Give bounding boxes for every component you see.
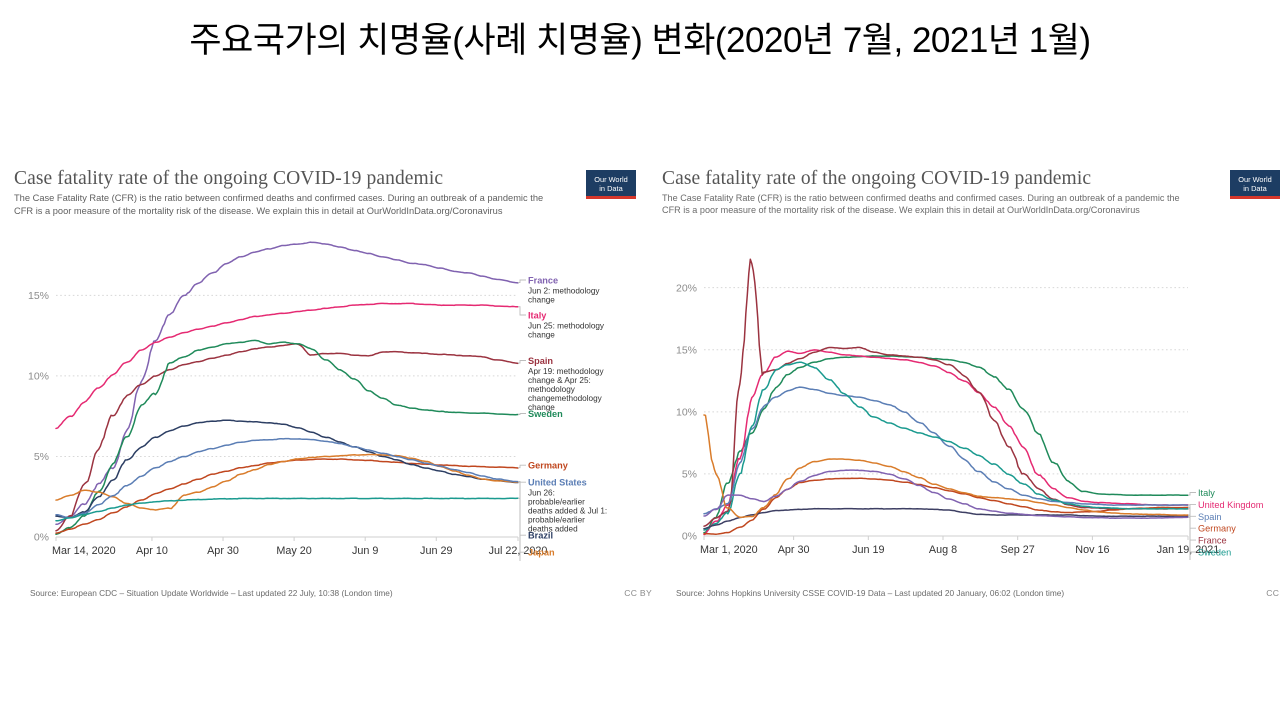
x-axis-tick: Jun 19 [852, 544, 884, 556]
chart-footer-left: Source: European CDC – Situation Update … [14, 588, 652, 598]
series-line-united-states[interactable] [704, 415, 1188, 517]
x-axis-tick: May 20 [276, 545, 311, 557]
legend-note: Jun 26:probable/earlierdeaths added & Ju… [528, 489, 607, 534]
series-line-france[interactable] [704, 260, 1188, 527]
our-world-in-data-logo[interactable]: Our World in Data [586, 170, 636, 199]
plot-area-left: 0%5%10%15%Mar 14, 2020Apr 10Apr 30May 20… [14, 231, 636, 561]
legend-label-spain[interactable]: Spain [528, 356, 553, 366]
legend-leader-line [518, 413, 526, 414]
y-axis-tick: 0% [682, 531, 697, 543]
series-line-italy[interactable] [56, 303, 518, 428]
legend-label-france[interactable]: France [1198, 536, 1227, 546]
legend-leader-line [518, 280, 526, 283]
our-world-in-data-logo[interactable]: Our World in Data [1230, 170, 1280, 199]
legend-note: Jun 25: methodologychange [528, 321, 605, 339]
legend-leader-line [518, 482, 526, 552]
license-right[interactable]: CC BY [1266, 588, 1280, 598]
y-axis-tick: 0% [34, 532, 49, 544]
legend-leader-line [518, 482, 526, 535]
source-text-left: Source: European CDC – Situation Update … [30, 588, 393, 598]
logo-line-1: Our World [594, 175, 628, 184]
x-axis-tick: Apr 10 [136, 545, 168, 557]
series-line-japan[interactable] [56, 454, 518, 510]
legend-label-italy[interactable]: Italy [1198, 488, 1215, 498]
chart-subtitle-left: The Case Fatality Rate (CFR) is the rati… [14, 192, 550, 217]
series-line-france[interactable] [56, 242, 518, 524]
source-text-right: Source: Johns Hopkins University CSSE CO… [676, 588, 1064, 598]
x-axis-tick: Nov 16 [1075, 544, 1109, 556]
legend-leader-line [518, 307, 526, 315]
slide-root: 주요국가의 치명율(사례 치명율) 변화(2020년 7월, 2021년 1월)… [0, 0, 1280, 720]
chart-footer-right: Source: Johns Hopkins University CSSE CO… [662, 588, 1280, 598]
x-axis-tick: Mar 14, 2020 [52, 545, 116, 557]
chart-title-right: Case fatality rate of the ongoing COVID-… [662, 168, 1280, 189]
legend-leader-line [518, 465, 526, 468]
legend-label-france[interactable]: France [528, 275, 558, 285]
y-axis-tick: 5% [682, 469, 697, 481]
logo-line-2: in Data [1243, 184, 1266, 193]
legend-label-united-kingdom[interactable]: United Kingdom [1198, 500, 1264, 510]
legend-label-germany[interactable]: Germany [1198, 524, 1236, 534]
x-axis-tick: Jun 29 [420, 545, 452, 557]
x-axis-tick: Jun 9 [352, 545, 378, 557]
chart-header-right: Case fatality rate of the ongoing COVID-… [662, 168, 1280, 216]
x-axis-tick: Apr 30 [778, 544, 810, 556]
chart-panel-left: Case fatality rate of the ongoing COVID-… [14, 168, 636, 598]
chart-title-left: Case fatality rate of the ongoing COVID-… [14, 168, 636, 189]
legend-label-italy[interactable]: Italy [528, 310, 547, 320]
legend-label-japan[interactable]: Japan [528, 548, 555, 558]
chart-subtitle-right: The Case Fatality Rate (CFR) is the rati… [662, 192, 1186, 216]
plot-area-right: 0%5%10%15%20%Mar 1, 2020Apr 30Jun 19Aug … [662, 230, 1280, 560]
legend-label-brazil[interactable]: Brazil [528, 531, 553, 541]
legend-label-sweden[interactable]: Sweden [1198, 548, 1231, 558]
page-title: 주요국가의 치명율(사례 치명율) 변화(2020년 7월, 2021년 1월) [0, 12, 1280, 63]
legend-note: Apr 19: methodologychange & Apr 25:metho… [528, 367, 604, 412]
line-chart-left[interactable]: 0%5%10%15%Mar 14, 2020Apr 10Apr 30May 20… [14, 231, 636, 561]
y-axis-tick: 15% [676, 345, 697, 357]
license-left[interactable]: CC BY [624, 588, 652, 598]
y-axis-tick: 5% [34, 451, 49, 463]
logo-line-1: Our World [1238, 175, 1272, 184]
legend-leader-line [1188, 493, 1196, 496]
y-axis-tick: 10% [28, 370, 49, 382]
legend-leader-line [1188, 509, 1196, 540]
y-axis-tick: 20% [676, 283, 697, 295]
legend-leader-line [518, 360, 526, 363]
x-axis-tick: Mar 1, 2020 [700, 544, 758, 556]
x-axis-tick: Apr 30 [207, 545, 239, 557]
y-axis-tick: 15% [28, 290, 49, 302]
x-axis-tick: Aug 8 [929, 544, 957, 556]
x-axis-tick: Sep 27 [1001, 544, 1035, 556]
series-line-united-kingdom[interactable] [704, 350, 1188, 535]
y-axis-tick: 10% [676, 407, 697, 419]
legend-label-germany[interactable]: Germany [528, 461, 569, 471]
legend-label-united-states[interactable]: United States [528, 478, 587, 488]
chart-panel-right: Case fatality rate of the ongoing COVID-… [662, 168, 1280, 598]
series-line-south-korea[interactable] [56, 498, 518, 521]
legend-note: Jun 2: methodologychange [528, 286, 600, 304]
series-line-germany[interactable] [704, 479, 1188, 535]
legend-label-sweden[interactable]: Sweden [528, 409, 563, 419]
legend-label-united-states[interactable]: United States [1198, 560, 1254, 561]
chart-header-left: Case fatality rate of the ongoing COVID-… [14, 168, 636, 217]
line-chart-right[interactable]: 0%5%10%15%20%Mar 1, 2020Apr 30Jun 19Aug … [662, 230, 1280, 560]
legend-label-spain[interactable]: Spain [1198, 512, 1222, 522]
logo-line-2: in Data [599, 184, 622, 193]
